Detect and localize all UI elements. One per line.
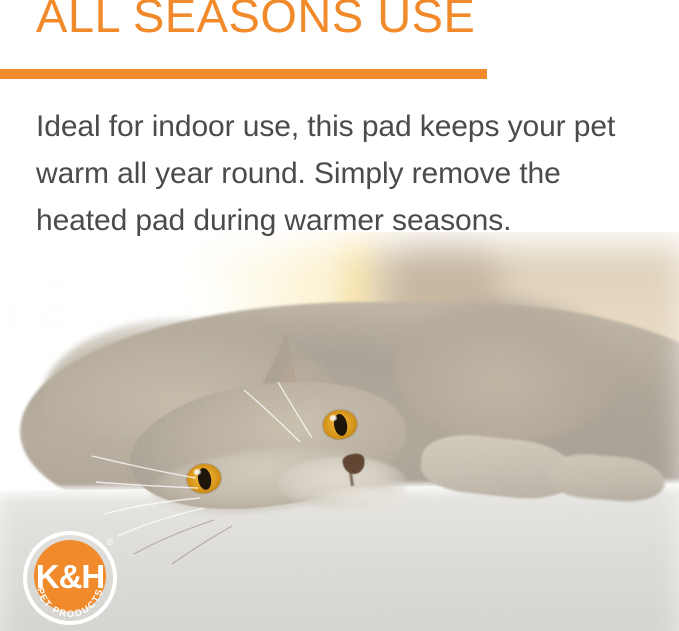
text-panel: ALL SEASONS USE Ideal for indoor use, th… bbox=[0, 0, 679, 240]
page-title: ALL SEASONS USE bbox=[36, 0, 475, 44]
product-feature-image: ALL SEASONS USE Ideal for indoor use, th… bbox=[0, 0, 679, 631]
logo-registered-mark: ® bbox=[107, 537, 114, 547]
accent-divider bbox=[0, 69, 487, 79]
logo-monogram: K&H bbox=[36, 558, 105, 595]
body-paragraph: Ideal for indoor use, this pad keeps you… bbox=[36, 103, 654, 244]
kh-pet-products-logo: K&H PET PRODUCTS ® bbox=[20, 528, 120, 628]
